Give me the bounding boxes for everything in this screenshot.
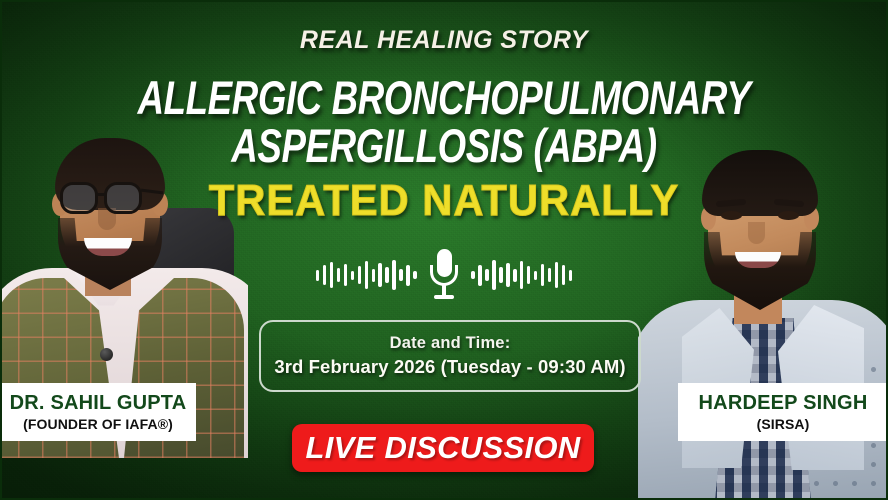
- poster-border: [0, 0, 888, 500]
- webinar-poster: REAL HEALING STORY ALLERGIC BRONCHOPULMO…: [0, 0, 888, 500]
